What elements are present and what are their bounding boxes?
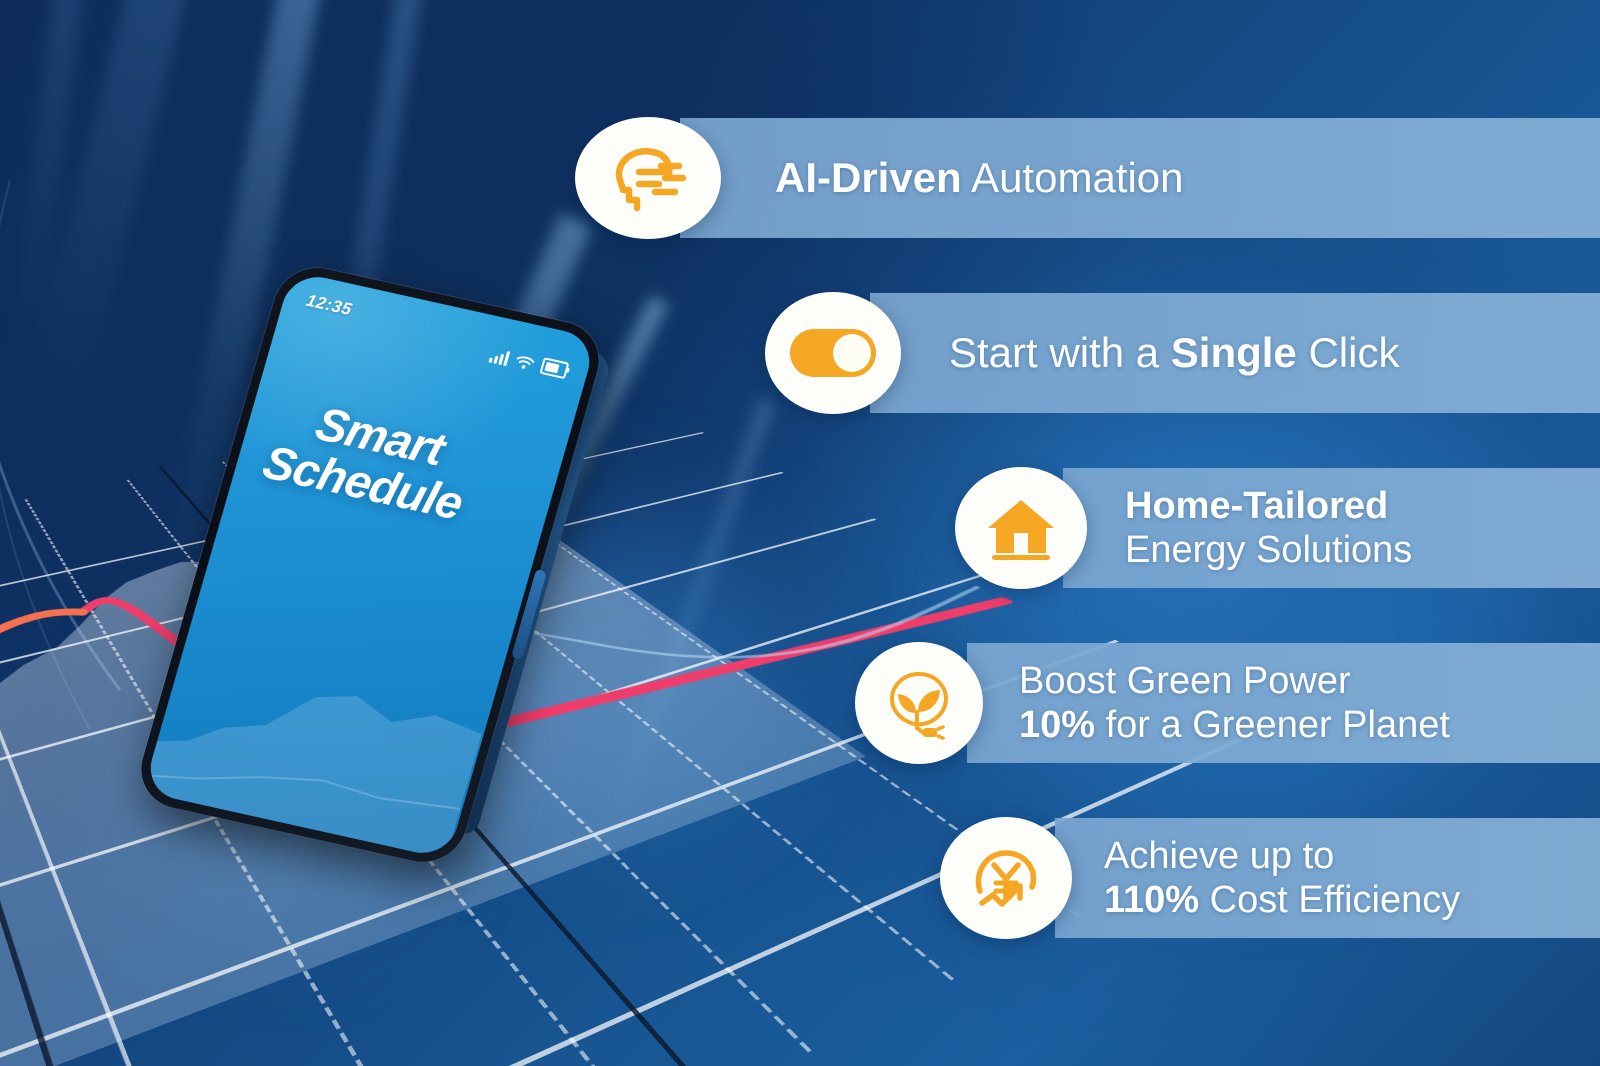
feature-regular-line2: for a Greener Planet	[1095, 704, 1450, 746]
feature-bold-text: Single	[1171, 329, 1297, 376]
feature-bold-line2: 10%	[1019, 704, 1095, 746]
feature-label-boost-green-power: Boost Green Power 10% for a Greener Plan…	[1019, 659, 1450, 747]
feature-regular-line1: Boost Green Power	[1019, 659, 1450, 703]
feature-regular-line1: Achieve up to	[1104, 834, 1460, 878]
feature-regular-text: Automation	[962, 154, 1184, 201]
feature-row-cost-efficiency[interactable]: Achieve up to 110% Cost Efficiency	[940, 818, 1600, 938]
feature-label-home-tailored-energy: Home-Tailored Energy Solutions	[1125, 484, 1412, 572]
yen-growth-arrow-icon	[940, 817, 1072, 939]
feature-regular-text: Start with a	[949, 329, 1171, 376]
feature-row-home-tailored-energy[interactable]: Home-Tailored Energy Solutions	[955, 468, 1600, 588]
feature-list: AI-Driven Automation Start with a Single…	[0, 0, 1600, 1066]
eco-plant-plug-icon	[855, 642, 983, 764]
home-icon	[955, 467, 1087, 589]
feature-label-cost-efficiency: Achieve up to 110% Cost Efficiency	[1104, 834, 1460, 922]
feature-row-ai-driven-automation[interactable]: AI-Driven Automation	[575, 118, 1600, 238]
feature-label-ai-driven-automation: AI-Driven Automation	[775, 154, 1184, 203]
feature-row-boost-green-power[interactable]: Boost Green Power 10% for a Greener Plan…	[855, 643, 1600, 763]
ai-head-icon	[575, 117, 721, 239]
feature-bold-text: AI-Driven	[775, 154, 962, 201]
feature-bold-line2: 110%	[1104, 879, 1199, 921]
feature-regular-line2: Cost Efficiency	[1199, 879, 1460, 921]
feature-row-single-click[interactable]: Start with a Single Click	[765, 293, 1600, 413]
infographic-canvas: 12:35 Smart Schedule	[0, 0, 1600, 1066]
feature-bold-line1: Home-Tailored	[1125, 484, 1412, 528]
feature-regular-line2: Energy Solutions	[1125, 528, 1412, 572]
feature-label-single-click: Start with a Single Click	[949, 329, 1399, 378]
toggle-switch-on-icon[interactable]	[765, 292, 901, 414]
feature-regular-text-end: Click	[1297, 329, 1400, 376]
